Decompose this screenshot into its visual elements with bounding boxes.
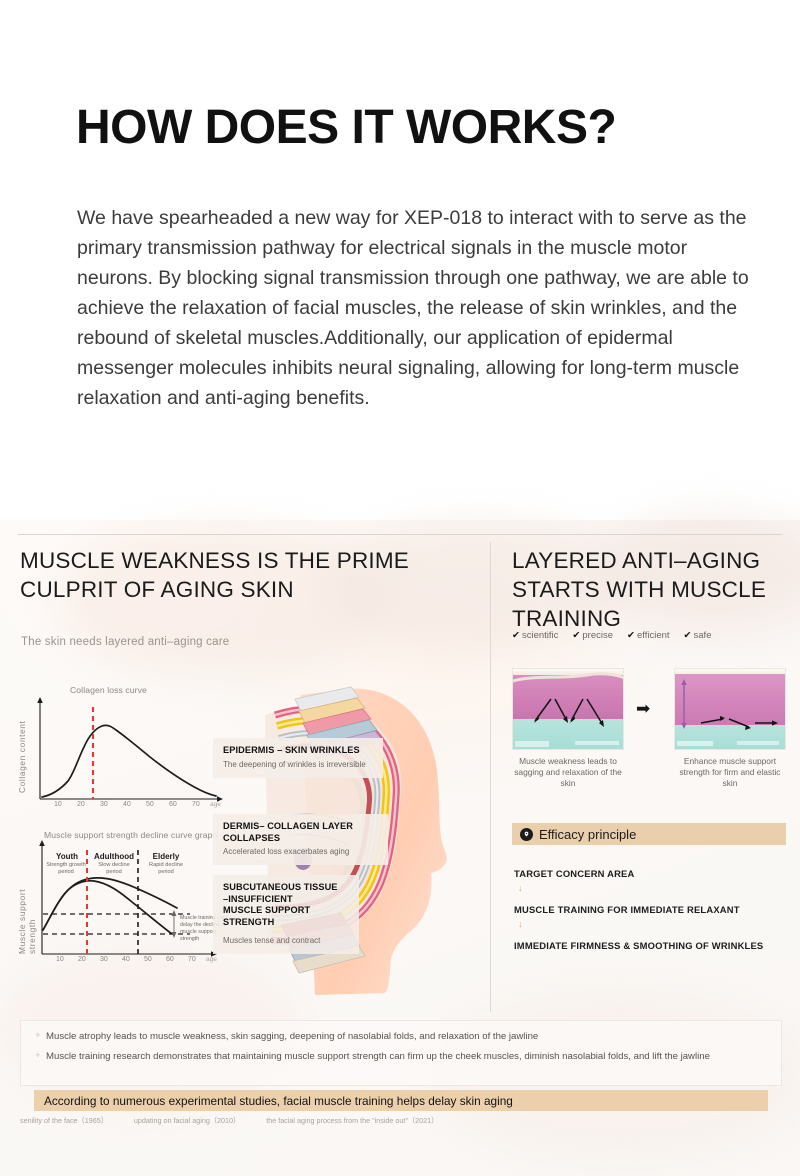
citation: updating on facial aging（2010） xyxy=(134,1116,240,1126)
intro-paragraph: We have spearheaded a new way for XEP-01… xyxy=(77,203,757,413)
note-item: Muscle training research demonstrates th… xyxy=(35,1050,767,1064)
comparison-arrow-icon: ➡ xyxy=(636,700,650,717)
right-headline: LAYERED ANTI–AGING STARTS WITH MUSCLE TR… xyxy=(512,546,792,633)
micrograph-before: Muscle weakness leads to sagging and rel… xyxy=(512,668,624,789)
feature-item: ✔scientific xyxy=(512,630,558,641)
chart-xtick: 20 xyxy=(78,956,86,963)
conclusion-text: According to numerous experimental studi… xyxy=(44,1094,513,1108)
content-section: MUSCLE WEAKNESS IS THE PRIME CULPRIT OF … xyxy=(0,520,800,1176)
micrograph-comparison: Muscle weakness leads to sagging and rel… xyxy=(512,668,786,789)
micrograph-caption: Muscle weakness leads to sagging and rel… xyxy=(512,756,624,789)
card-title: DERMIS– COLLAGEN LAYER COLLAPSES xyxy=(223,821,378,844)
chart-zone-sub: Rapid decline period xyxy=(144,862,188,876)
chart-xtick: 20 xyxy=(77,801,85,808)
chart-zone-label: Elderly xyxy=(144,852,188,861)
chart-xtick: 60 xyxy=(169,801,177,808)
micrograph-image xyxy=(674,668,786,750)
chart-xtick: 30 xyxy=(100,956,108,963)
feature-label: scientific xyxy=(522,630,558,641)
feature-label: precise xyxy=(582,630,613,641)
left-headline: MUSCLE WEAKNESS IS THE PRIME CULPRIT OF … xyxy=(20,546,460,604)
step-arrow-icon: ↓ xyxy=(518,920,523,929)
citation-row: senility of the face（1965） updating on f… xyxy=(20,1116,438,1126)
chart-xtick: 40 xyxy=(123,801,131,808)
feature-item: ✔safe xyxy=(684,630,712,641)
feature-label: safe xyxy=(694,630,712,641)
check-icon: ✔ xyxy=(627,630,635,641)
citation: the facial aging process from the "insid… xyxy=(266,1116,438,1126)
feature-item: ✔efficient xyxy=(627,630,670,641)
check-icon: ✔ xyxy=(684,630,692,641)
micrograph-image xyxy=(512,668,624,750)
card-title: EPIDERMIS – SKIN WRINKLES xyxy=(223,745,373,757)
efficacy-principle-label: Efficacy principle xyxy=(539,827,636,842)
card-desc: Muscles tense and contract xyxy=(223,936,349,946)
efficacy-step: IMMEDIATE FIRMNESS & SMOOTHING OF WRINKL… xyxy=(514,940,763,951)
efficacy-step: MUSCLE TRAINING FOR IMMEDIATE RELAXANT xyxy=(514,904,740,915)
chart-muscle-strength: Muscle support strength decline curve gr… xyxy=(14,830,244,975)
micrograph-caption: Enhance muscle support strength for firm… xyxy=(674,756,786,789)
chart-xtick: 30 xyxy=(100,801,108,808)
page-title: HOW DOES IT WORKS? xyxy=(76,100,616,155)
chart-xlabel: age xyxy=(206,956,217,963)
micrograph-after: Enhance muscle support strength for firm… xyxy=(674,668,786,789)
feature-label: efficient xyxy=(637,630,670,641)
efficacy-principle-bar: Efficacy principle xyxy=(512,823,786,845)
step-arrow-icon: ↓ xyxy=(518,884,523,893)
card-title: SUBCUTANEOUS TISSUE –INSUFFICIENT MUSCLE… xyxy=(223,882,349,928)
feature-check-row: ✔scientific ✔precise ✔efficient ✔safe xyxy=(512,630,711,641)
efficacy-step: TARGET CONCERN AREA xyxy=(514,868,634,879)
conclusion-bar: According to numerous experimental studi… xyxy=(34,1090,768,1111)
chart-collagen-plot xyxy=(14,685,229,820)
chart-zone-sub: Strength growth period xyxy=(44,862,88,876)
left-subhead: The skin needs layered anti–aging care xyxy=(21,636,229,648)
anatomy-label-card: SUBCUTANEOUS TISSUE –INSUFFICIENT MUSCLE… xyxy=(213,875,359,954)
card-desc: Accelerated loss exacerbates aging xyxy=(223,847,378,857)
chart-zone-label: Youth xyxy=(46,852,88,861)
chart-xtick: 70 xyxy=(192,801,200,808)
chart-xtick: 50 xyxy=(146,801,154,808)
chart-xtick: 60 xyxy=(166,956,174,963)
pin-icon xyxy=(520,828,533,841)
check-icon: ✔ xyxy=(512,630,520,641)
feature-item: ✔precise xyxy=(572,630,613,641)
chart-xtick: 10 xyxy=(56,956,64,963)
poster-page: HOW DOES IT WORKS? We have spearheaded a… xyxy=(0,0,800,1176)
top-divider xyxy=(18,534,782,535)
chart-xlabel: age xyxy=(210,801,221,808)
chart-xtick: 40 xyxy=(122,956,130,963)
anatomy-label-card: EPIDERMIS – SKIN WRINKLES The deepening … xyxy=(213,738,383,778)
chart-xtick: 70 xyxy=(188,956,196,963)
note-item: Muscle atrophy leads to muscle weakness,… xyxy=(35,1030,767,1044)
check-icon: ✔ xyxy=(572,630,580,641)
hero-section: HOW DOES IT WORKS? We have spearheaded a… xyxy=(0,0,800,520)
chart-collagen-loss: Collagen loss curve Collagen content 10 … xyxy=(14,685,229,820)
citation: senility of the face（1965） xyxy=(20,1116,108,1126)
notes-box: Muscle atrophy leads to muscle weakness,… xyxy=(20,1020,782,1086)
chart-zone-label: Adulthood xyxy=(90,852,138,861)
card-desc: The deepening of wrinkles is irreversibl… xyxy=(223,760,373,770)
chart-xtick: 50 xyxy=(144,956,152,963)
chart-zone-sub: Slow decline period xyxy=(90,862,138,876)
chart-xtick: 10 xyxy=(54,801,62,808)
anatomy-label-card: DERMIS– COLLAGEN LAYER COLLAPSES Acceler… xyxy=(213,814,388,865)
